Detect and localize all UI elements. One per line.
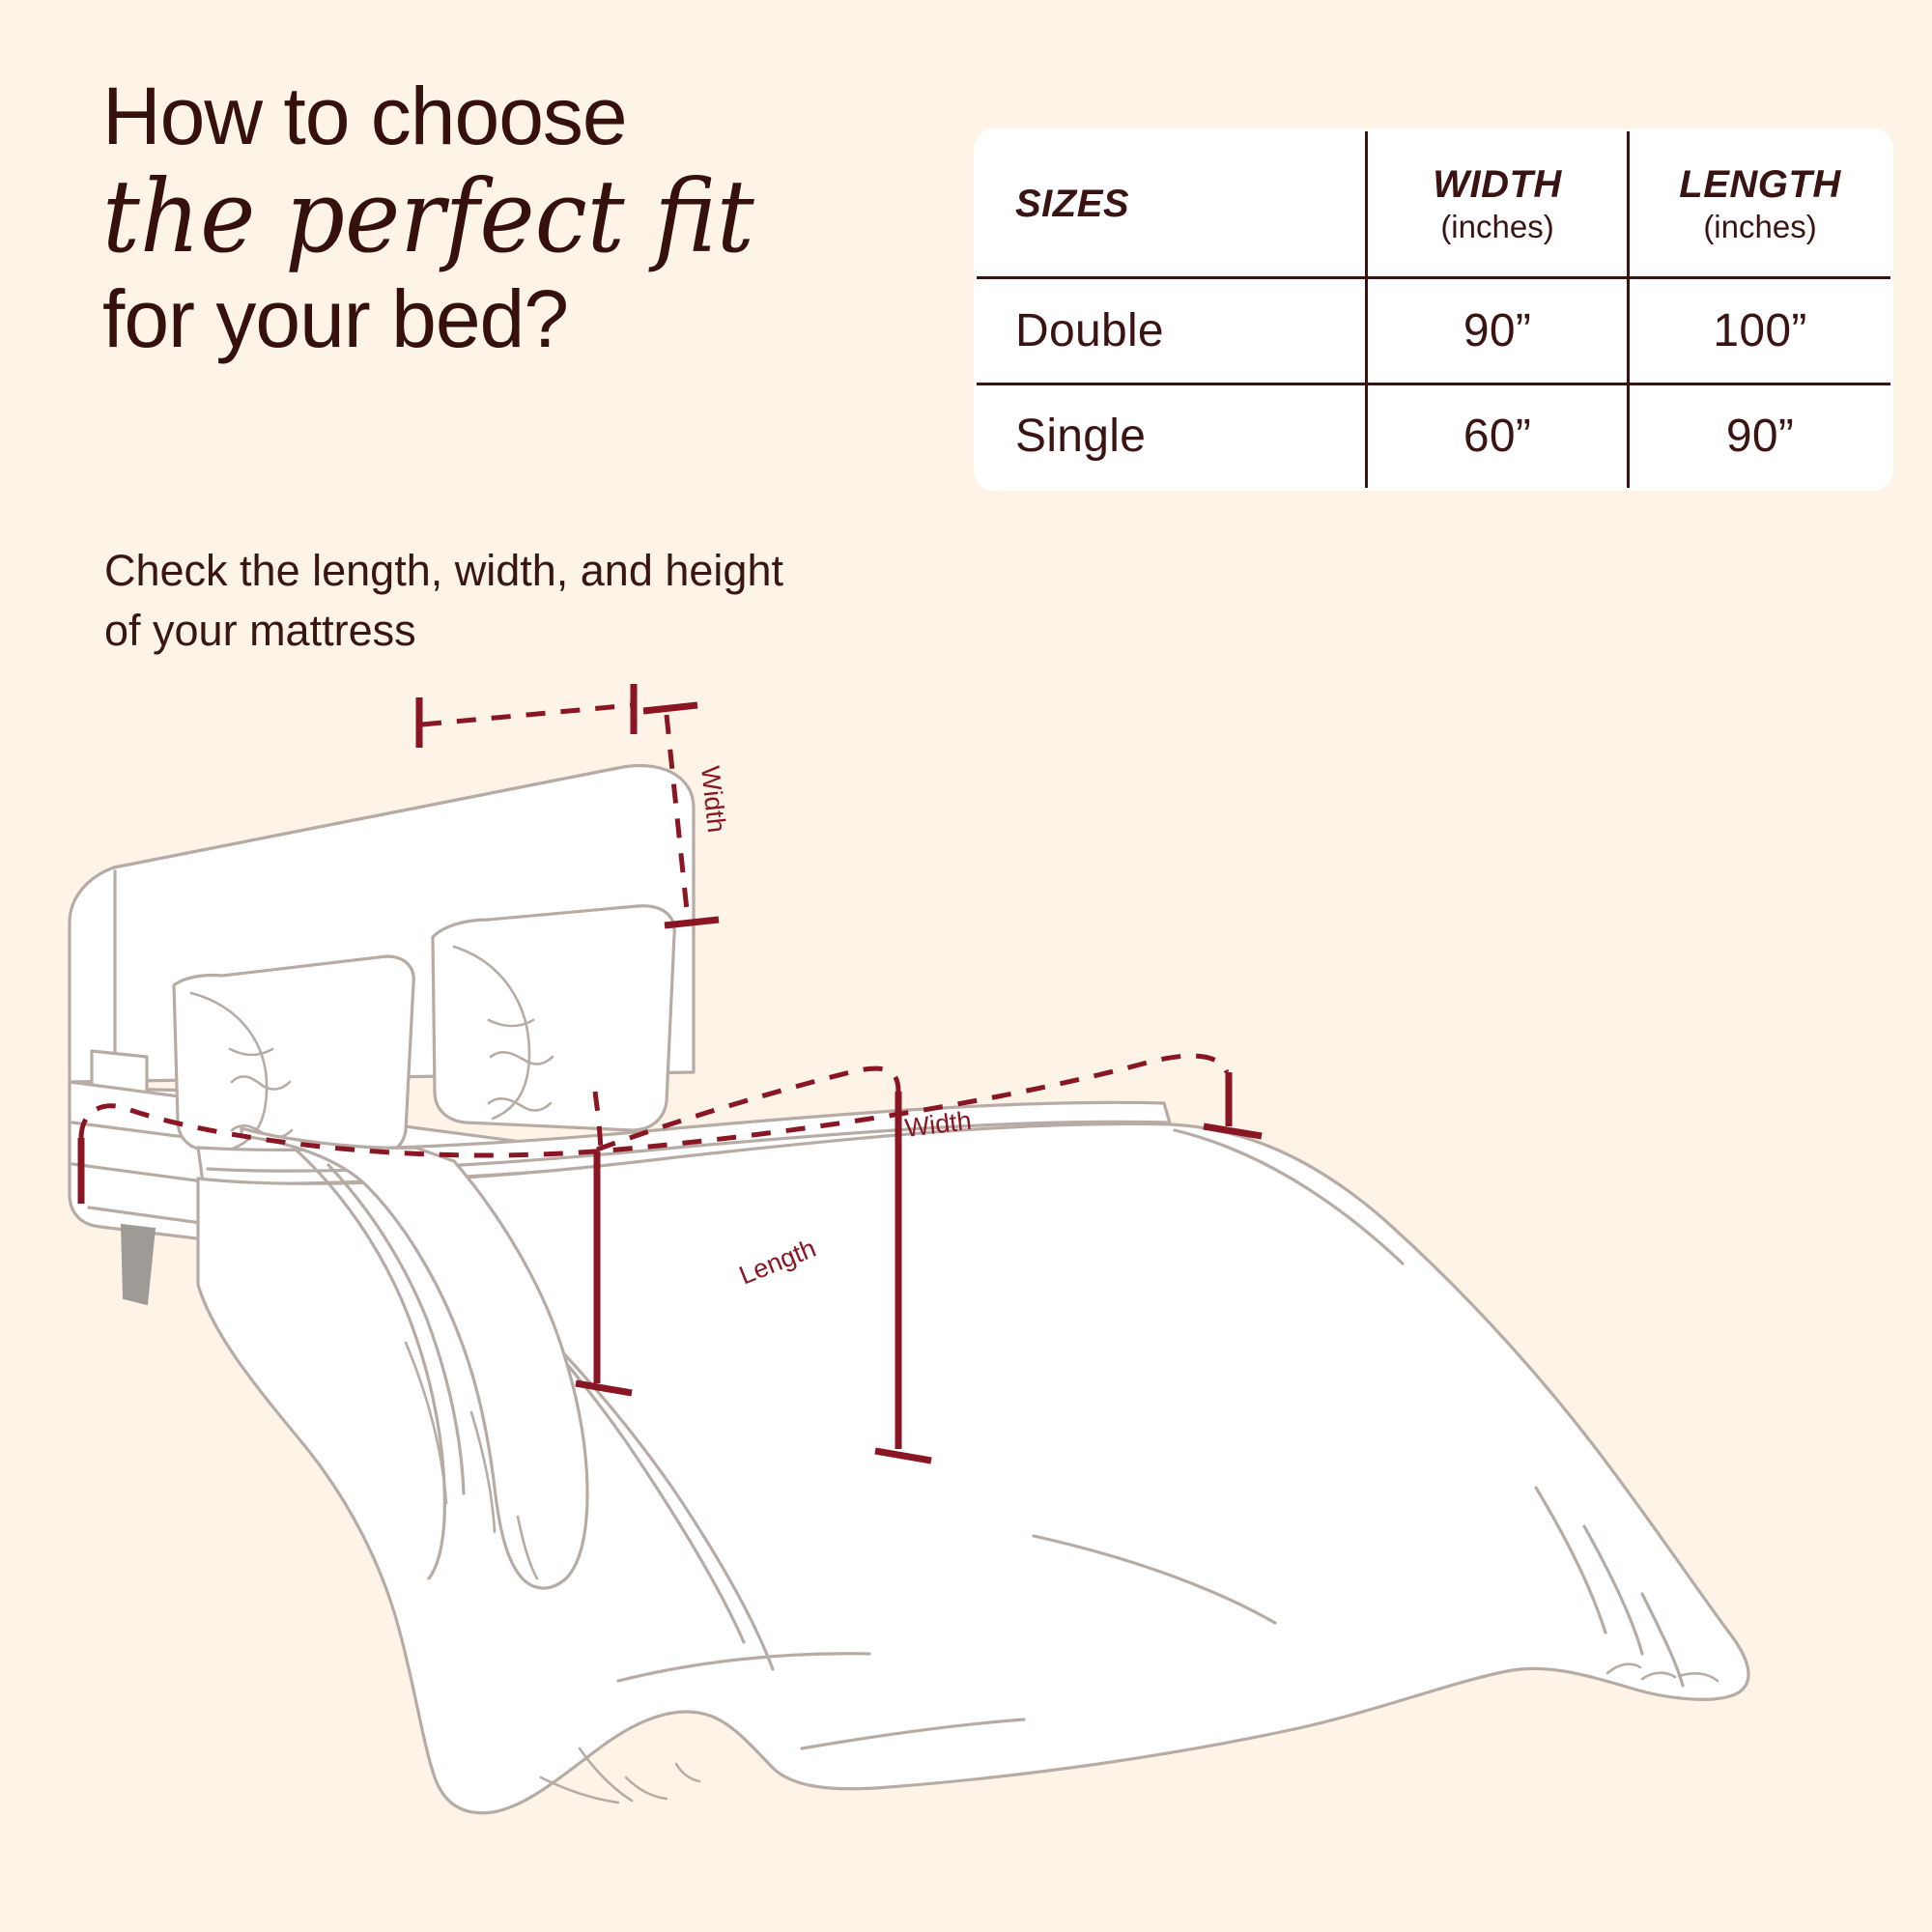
title-line-1: How to choose xyxy=(102,75,933,156)
row-double-width: 90” xyxy=(1367,278,1629,384)
duvet-foot-gather-3 xyxy=(626,1777,667,1799)
header-width-main: WIDTH xyxy=(1368,163,1627,207)
header-length-main: LENGTH xyxy=(1630,163,1890,207)
size-table-container: SIZES WIDTH (inches) LENGTH (inches) Dou… xyxy=(974,128,1843,491)
title-line-3: for your bed? xyxy=(102,278,933,359)
size-table: SIZES WIDTH (inches) LENGTH (inches) Dou… xyxy=(974,128,1893,491)
header-width-unit: (inches) xyxy=(1368,209,1627,245)
bed-leg-front-left xyxy=(122,1225,155,1304)
pillow-right xyxy=(433,906,674,1130)
title-line-2-italic: the perfect fit xyxy=(102,162,875,270)
duvet-foot-gather-4 xyxy=(676,1764,699,1781)
row-single-length: 90” xyxy=(1629,384,1892,490)
subtitle: Check the length, width, and height of y… xyxy=(104,541,800,661)
bed-illustration: .ln { fill:none; stroke:#b6aca5; stroke-… xyxy=(0,667,1932,1932)
header-sizes: SIZES xyxy=(976,130,1367,278)
row-single-size: Single xyxy=(976,384,1367,490)
pillow-length-dash xyxy=(422,705,632,724)
table-row: Single 60” 90” xyxy=(976,384,1892,490)
header-width: WIDTH (inches) xyxy=(1367,130,1629,278)
poster-canvas: How to choose the perfect fit for your b… xyxy=(0,0,1932,1932)
row-single-width: 60” xyxy=(1367,384,1629,490)
table-row: Double 90” 100” xyxy=(976,278,1892,384)
pillow-length-dimension: Length xyxy=(419,667,634,748)
row-double-size: Double xyxy=(976,278,1367,384)
pillow-left xyxy=(174,956,413,1157)
table-header-row: SIZES WIDTH (inches) LENGTH (inches) xyxy=(976,130,1892,278)
row-double-length: 100” xyxy=(1629,278,1892,384)
page-title: How to choose the perfect fit for your b… xyxy=(102,75,933,359)
header-length: LENGTH (inches) xyxy=(1629,130,1892,278)
header-length-unit: (inches) xyxy=(1630,209,1890,245)
pillow-width-tick-top xyxy=(643,705,697,711)
pillow-width-label: Width xyxy=(696,764,731,834)
